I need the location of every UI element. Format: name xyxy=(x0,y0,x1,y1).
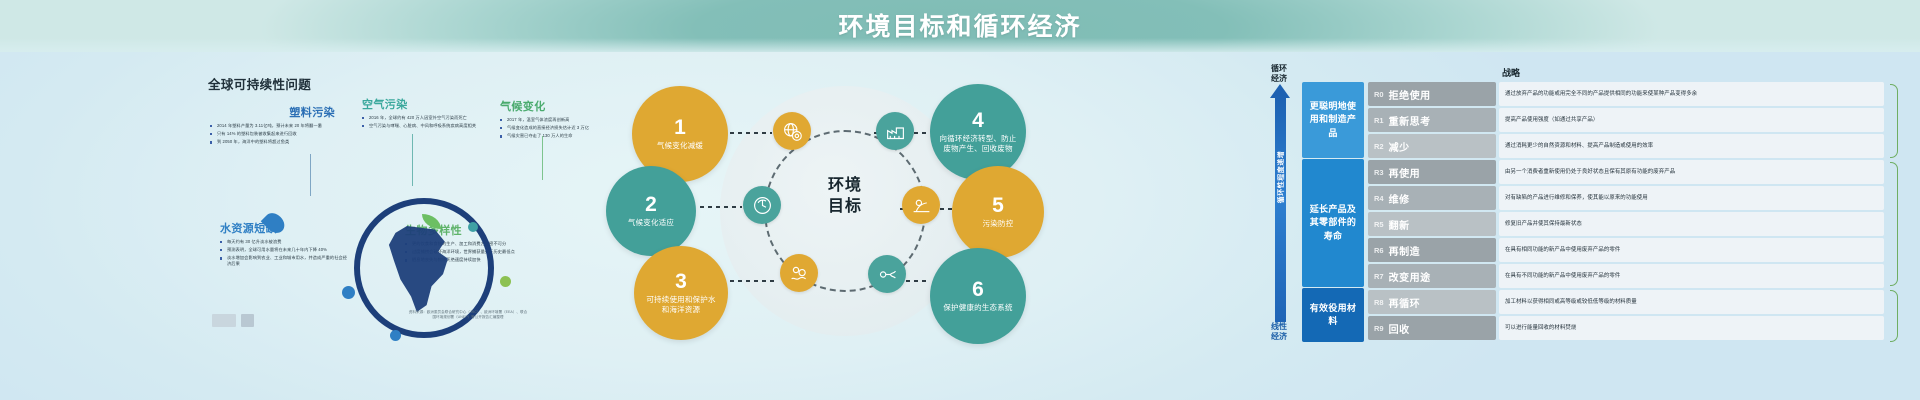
strategy-code-cell: R7 改变用途 xyxy=(1368,264,1496,288)
table-row[interactable]: R2 减少 通过消耗更少的自然资源和材料、提高产品制造或使用的效率 xyxy=(1368,134,1884,158)
objective-caption: 污染防控 xyxy=(974,219,1023,229)
center-label-line2: 目标 xyxy=(780,197,910,218)
strategy-code-cell: R5 翻新 xyxy=(1368,212,1496,236)
table-row[interactable]: R6 再制造 在具有相同功能的新产品中使用废弃产品的零件 xyxy=(1368,238,1884,262)
strategy-code: R9 xyxy=(1374,324,1384,333)
strategy-code-cell: R1 重新思考 xyxy=(1368,108,1496,132)
left-panel-logos xyxy=(212,314,254,327)
axis-label-linear-economy: 线性 经济 xyxy=(1256,322,1302,342)
organization-logo xyxy=(241,314,254,327)
objective-number: 4 xyxy=(972,110,984,131)
objective-caption: 向循环经济转型、防止废物产生、回收废物 xyxy=(930,134,1026,154)
strategy-label: 维修 xyxy=(1389,191,1410,206)
table-row[interactable]: R0 拒绝使用 通过放弃产品的功能或用完全不同的产品提供相同的功能来使某种产品变… xyxy=(1368,82,1884,106)
topic-climate-change: 气候变化 2017 年，温室气体浓度再创新高 气候变化造成的直接经济损失估计近 … xyxy=(500,98,628,141)
connector-dotted xyxy=(730,280,778,282)
topic-bullets-air: 2016 年，全球约有 420 万人因室外空气污染而死亡 空气污染与哮喘、心脏病… xyxy=(362,115,497,129)
topic-title-plastic: 塑料污染 xyxy=(210,104,335,120)
strategy-code: R7 xyxy=(1374,272,1384,281)
strategy-code: R1 xyxy=(1374,116,1384,125)
strategy-group-1: 更聪明地使用和制造产品 xyxy=(1302,82,1364,158)
objective-number: 2 xyxy=(645,194,657,215)
strategy-code: R6 xyxy=(1374,246,1384,255)
topic-bullets-climate: 2017 年，温室气体浓度再创新高 气候变化造成的直接经济损失估计近 3 万亿 … xyxy=(500,117,628,139)
strategy-description: 由另一个消费者重新使用仍处于良好状态且保有其原有功能的废弃产品 xyxy=(1499,160,1884,184)
center-label-line1: 环境 xyxy=(780,176,910,197)
strategy-code: R2 xyxy=(1374,142,1384,151)
objective-number: 3 xyxy=(675,271,687,292)
left-panel-credit: 资料来源：欧洲委员会联合研究中心（JRC）、欧洲环境署（EEA）、联合国环境规划… xyxy=(408,310,528,321)
pollution-control-icon xyxy=(902,186,940,224)
strategy-description: 在具有不同功能的新产品中使用废弃产品的零件 xyxy=(1499,264,1884,288)
strategy-code-cell: R9 回收 xyxy=(1368,316,1496,340)
objective-caption: 气候变化适应 xyxy=(619,218,683,228)
group-bracket xyxy=(1890,162,1898,286)
bullet-item: 气候变化造成的直接经济损失估计近 3 万亿 xyxy=(500,125,628,131)
bullet-item: 2016 年，全球约有 420 万人因室外空气污染而死亡 xyxy=(362,115,497,121)
connector-line-climate xyxy=(542,136,543,180)
strategy-code: R8 xyxy=(1374,298,1384,307)
strategy-group-2: 延长产品及其零部件的寿命 xyxy=(1302,159,1364,287)
strategy-group-3: 有效役用材料 xyxy=(1302,288,1364,342)
strategy-code-cell: R3 再使用 xyxy=(1368,160,1496,184)
global-sustainability-panel: 全球可持续性问题 塑料污染 2014 年塑料产量为 3.11亿吨，预计未来 20… xyxy=(190,62,610,352)
objective-bubble-6[interactable]: 6 保护健康的生态系统 xyxy=(930,248,1026,344)
page-header: 环境目标和循环经济 xyxy=(0,0,1920,52)
strategy-description: 在具有相同功能的新产品中使用废弃产品的零件 xyxy=(1499,238,1884,262)
strategy-label: 回收 xyxy=(1389,321,1410,336)
axis-label-line2: 经济 xyxy=(1256,332,1302,342)
strategy-description: 可以进行能量回收的材料焚烧 xyxy=(1499,316,1884,340)
strategy-code: R3 xyxy=(1374,168,1384,177)
axis-label-line1: 线性 xyxy=(1256,322,1302,332)
strategy-code: R4 xyxy=(1374,194,1384,203)
left-panel-heading: 全球可持续性问题 xyxy=(208,74,311,93)
table-row[interactable]: R9 回收 可以进行能量回收的材料焚烧 xyxy=(1368,316,1884,340)
strategy-label: 减少 xyxy=(1389,139,1410,154)
arrow-label: 循环性程度递增 xyxy=(1276,142,1286,212)
axis-label-circular-economy: 循环 经济 xyxy=(1256,64,1302,84)
strategy-label: 再使用 xyxy=(1389,165,1421,180)
organization-logo xyxy=(212,314,236,327)
map-node-icon xyxy=(342,286,355,299)
connector-line-air xyxy=(412,134,413,186)
table-row[interactable]: R8 再循环 加工材料以获得相同或高等级或较低低等级的材料质量 xyxy=(1368,290,1884,314)
map-node-icon xyxy=(468,222,478,232)
strategy-label: 重新思考 xyxy=(1389,113,1431,128)
axis-label-line1: 循环 xyxy=(1256,64,1302,74)
factory-recycle-icon xyxy=(876,112,914,150)
table-row[interactable]: R1 重新思考 提高产品使用强度（如通过共享产品） xyxy=(1368,108,1884,132)
infographic-canvas: 全球可持续性问题 塑料污染 2014 年塑料产量为 3.11亿吨，预计未来 20… xyxy=(0,52,1920,400)
table-row[interactable]: R3 再使用 由另一个消费者重新使用仍处于良好状态且保有其原有功能的废弃产品 xyxy=(1368,160,1884,184)
bullet-item: 气候灾害已夺走了 130 万人的生命 xyxy=(500,133,628,139)
globe-illustration xyxy=(330,180,520,355)
objective-number: 1 xyxy=(674,117,686,138)
strategy-column-header: 战略 xyxy=(1426,66,1596,79)
objective-caption: 气候变化减缓 xyxy=(648,141,712,151)
bullet-item: 2017 年，温室气体浓度再创新高 xyxy=(500,117,628,123)
table-row[interactable]: R4 维修 对有缺陷的产品进行维修和保养，使其能以原来的功能使用 xyxy=(1368,186,1884,210)
strategy-description: 修复旧产品并使其保持最新状态 xyxy=(1499,212,1884,236)
strategy-label: 再循环 xyxy=(1389,295,1421,310)
globe-climate-icon xyxy=(773,112,811,150)
strategy-description: 加工材料以获得相同或高等级或较低低等级的材料质量 xyxy=(1499,290,1884,314)
strategy-code-cell: R4 维修 xyxy=(1368,186,1496,210)
topic-bullets-plastic: 2014 年塑料产量为 3.11亿吨，预计未来 20 年将翻一番 只有 14% … xyxy=(210,123,335,145)
objective-bubble-2[interactable]: 2 气候变化适应 xyxy=(606,166,696,256)
objective-number: 5 xyxy=(992,195,1004,216)
connector-dotted xyxy=(700,206,742,208)
environmental-objectives-diagram: 环境 目标 xyxy=(612,58,1042,358)
objective-caption: 保护健康的生态系统 xyxy=(934,303,1021,313)
bullet-item: 2014 年塑料产量为 3.11亿吨，预计未来 20 年将翻一番 xyxy=(210,123,335,129)
connector-dotted xyxy=(730,132,772,134)
bullet-item: 空气污染与哮喘、心脏病、中风和呼吸系统疾病高度相关 xyxy=(362,123,497,129)
map-node-icon xyxy=(390,330,401,341)
objective-bubble-5[interactable]: 5 污染防控 xyxy=(952,166,1044,258)
objective-bubble-3[interactable]: 3 可持续使用和保护水和海洋资源 xyxy=(634,246,728,340)
strategy-description: 对有缺陷的产品进行维修和保养，使其能以原来的功能使用 xyxy=(1499,186,1884,210)
page-title: 环境目标和循环经济 xyxy=(0,7,1920,43)
strategy-code-cell: R0 拒绝使用 xyxy=(1368,82,1496,106)
strategy-label: 拒绝使用 xyxy=(1389,87,1431,102)
objective-bubble-4[interactable]: 4 向循环经济转型、防止废物产生、回收废物 xyxy=(930,84,1026,180)
table-row[interactable]: R5 翻新 修复旧产品并使其保持最新状态 xyxy=(1368,212,1884,236)
bullet-item: 到 2050 年，海洋中的塑料将超过鱼类 xyxy=(210,139,335,145)
center-label: 环境 目标 xyxy=(780,176,910,218)
strategy-code-cell: R2 减少 xyxy=(1368,134,1496,158)
topic-air-pollution: 空气污染 2016 年，全球约有 420 万人因室外空气污染而死亡 空气污染与哮… xyxy=(362,96,497,131)
circularity-arrow: 循环性程度递增 xyxy=(1270,84,1290,322)
strategy-label: 改变用途 xyxy=(1389,269,1431,284)
ecosystem-icon xyxy=(868,255,906,293)
objective-caption: 可持续使用和保护水和海洋资源 xyxy=(634,295,728,315)
strategy-code: R0 xyxy=(1374,90,1384,99)
strategy-label: 翻新 xyxy=(1389,217,1410,232)
strategy-description: 提高产品使用强度（如通过共享产品） xyxy=(1499,108,1884,132)
group-bracket xyxy=(1890,290,1898,342)
water-cycle-icon xyxy=(743,186,781,224)
axis-label-line2: 经济 xyxy=(1256,74,1302,84)
group-bracket xyxy=(1890,84,1898,158)
marine-resource-icon xyxy=(780,254,818,292)
topic-plastic-pollution: 塑料污染 2014 年塑料产量为 3.11亿吨，预计未来 20 年将翻一番 只有… xyxy=(210,104,335,147)
strategy-description: 通过放弃产品的功能或用完全不同的产品提供相同的功能来使某种产品变得多余 xyxy=(1499,82,1884,106)
strategy-description: 通过消耗更少的自然资源和材料、提高产品制造或使用的效率 xyxy=(1499,134,1884,158)
map-node-icon xyxy=(500,276,511,287)
r-ladder-panel: 循环 经济 线性 经济 战略 循环性程度递增 更聪明地使用和制造产品 延长产品及… xyxy=(1256,58,1896,348)
strategy-code-cell: R6 再制造 xyxy=(1368,238,1496,262)
strategy-code-cell: R8 再循环 xyxy=(1368,290,1496,314)
connector-line-plastic xyxy=(310,154,311,196)
topic-title-climate: 气候变化 xyxy=(500,98,628,114)
strategy-code: R5 xyxy=(1374,220,1384,229)
table-row[interactable]: R7 改变用途 在具有不同功能的新产品中使用废弃产品的零件 xyxy=(1368,264,1884,288)
objective-number: 6 xyxy=(972,279,984,300)
strategy-label: 再制造 xyxy=(1389,243,1421,258)
topic-title-air: 空气污染 xyxy=(362,96,497,112)
bullet-item: 只有 14% 的塑料包装被收集起来进行回收 xyxy=(210,131,335,137)
